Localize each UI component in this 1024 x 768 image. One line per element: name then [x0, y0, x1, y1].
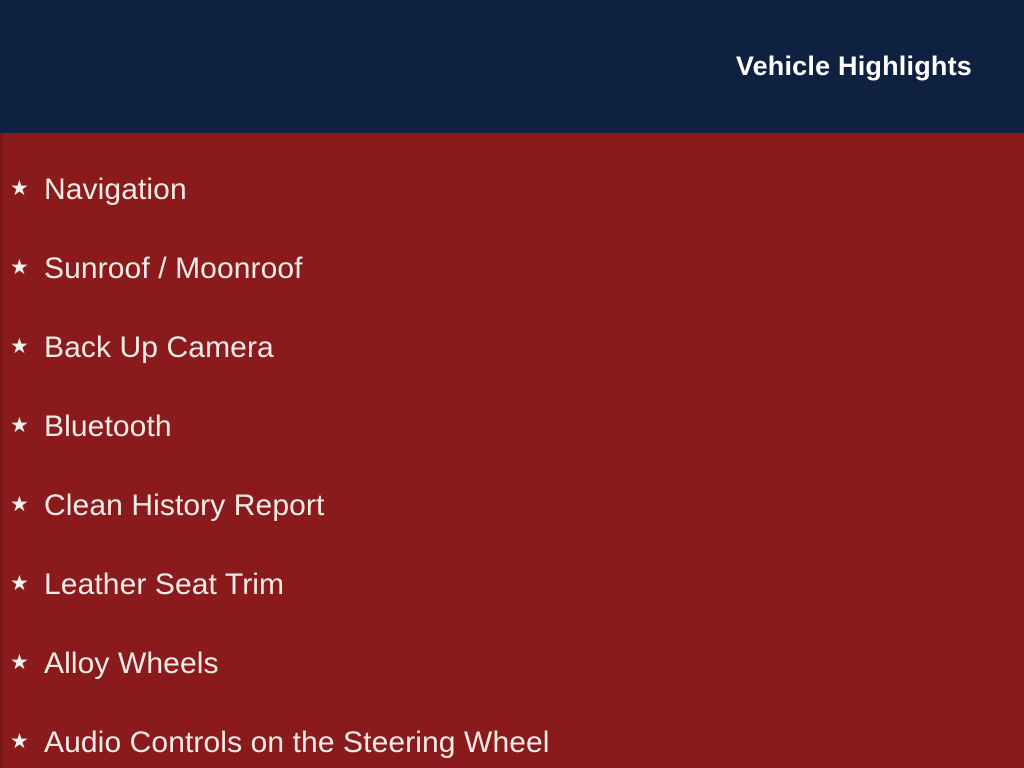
- left-edge-divider: [0, 133, 3, 768]
- list-item: ★ Navigation: [0, 150, 1024, 229]
- list-item-label: Alloy Wheels: [44, 648, 219, 680]
- star-icon: ★: [10, 336, 44, 357]
- vehicle-highlights-slide: Vehicle Highlights ★ Navigation ★ Sunroo…: [0, 0, 1024, 768]
- list-item: ★ Clean History Report: [0, 466, 1024, 545]
- list-item: ★ Audio Controls on the Steering Wheel: [0, 703, 1024, 768]
- list-item-label: Bluetooth: [44, 411, 172, 443]
- list-item: ★ Back Up Camera: [0, 308, 1024, 387]
- list-item-label: Back Up Camera: [44, 332, 274, 364]
- list-item-label: Leather Seat Trim: [44, 569, 284, 601]
- list-item: ★ Leather Seat Trim: [0, 545, 1024, 624]
- star-icon: ★: [10, 652, 44, 673]
- list-item: ★ Bluetooth: [0, 387, 1024, 466]
- list-item: ★ Sunroof / Moonroof: [0, 229, 1024, 308]
- list-item-label: Clean History Report: [44, 490, 324, 522]
- star-icon: ★: [10, 257, 44, 278]
- list-item-label: Sunroof / Moonroof: [44, 253, 303, 285]
- list-item: ★ Alloy Wheels: [0, 624, 1024, 703]
- vehicle-highlights-list: ★ Navigation ★ Sunroof / Moonroof ★ Back…: [0, 133, 1024, 768]
- slide-header: Vehicle Highlights: [0, 0, 1024, 133]
- star-icon: ★: [10, 494, 44, 515]
- star-icon: ★: [10, 573, 44, 594]
- star-icon: ★: [10, 415, 44, 436]
- star-icon: ★: [10, 178, 44, 199]
- star-icon: ★: [10, 731, 44, 752]
- list-item-label: Navigation: [44, 174, 187, 206]
- list-item-label: Audio Controls on the Steering Wheel: [44, 727, 550, 759]
- page-title: Vehicle Highlights: [736, 53, 972, 80]
